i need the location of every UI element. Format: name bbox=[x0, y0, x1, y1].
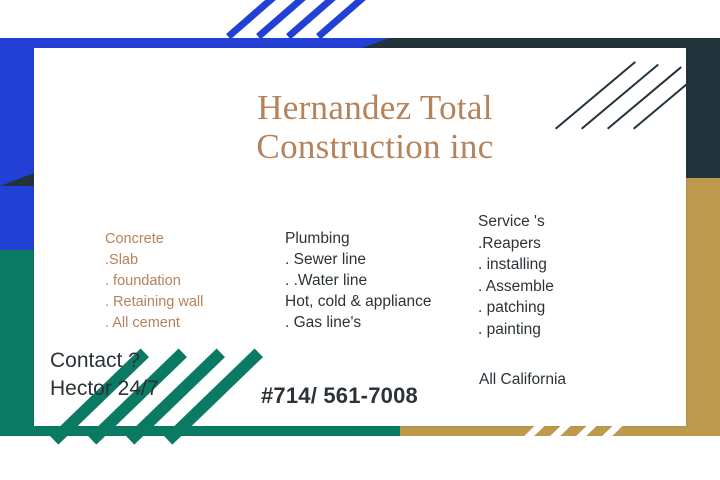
service-item: .Reapers bbox=[478, 233, 554, 255]
service-item: . foundation bbox=[105, 271, 203, 292]
contact-name-hours: Hector 24/7 bbox=[50, 375, 159, 403]
service-item: . patching bbox=[478, 297, 554, 319]
service-item: . Gas line's bbox=[285, 312, 431, 333]
contact-prompt: Contact ? bbox=[50, 347, 159, 375]
service-item: . .Water line bbox=[285, 270, 431, 291]
service-column-services: Service 's .Reapers . installing . Assem… bbox=[478, 211, 554, 340]
service-item: . Sewer line bbox=[285, 249, 431, 270]
service-item: . Assemble bbox=[478, 276, 554, 298]
service-item: . All cement bbox=[105, 313, 203, 334]
service-column-plumbing: Plumbing . Sewer line . .Water line Hot,… bbox=[285, 228, 431, 333]
service-heading-concrete: Concrete bbox=[105, 229, 203, 250]
service-item: .Slab bbox=[105, 250, 203, 271]
service-column-concrete: Concrete .Slab . foundation . Retaining … bbox=[105, 229, 203, 334]
service-item: . painting bbox=[478, 319, 554, 341]
service-item: . installing bbox=[478, 254, 554, 276]
contact-block: Contact ? Hector 24/7 bbox=[50, 347, 159, 403]
service-heading-services: Service 's bbox=[478, 211, 554, 233]
service-item: . Retaining wall bbox=[105, 292, 203, 313]
service-item: Hot, cold & appliance bbox=[285, 291, 431, 312]
coverage-area: All California bbox=[479, 371, 566, 389]
business-card: Hernandez Total Construction inc Concret… bbox=[0, 0, 720, 480]
service-heading-plumbing: Plumbing bbox=[285, 228, 431, 249]
phone-number[interactable]: #714/ 561-7008 bbox=[261, 383, 418, 409]
